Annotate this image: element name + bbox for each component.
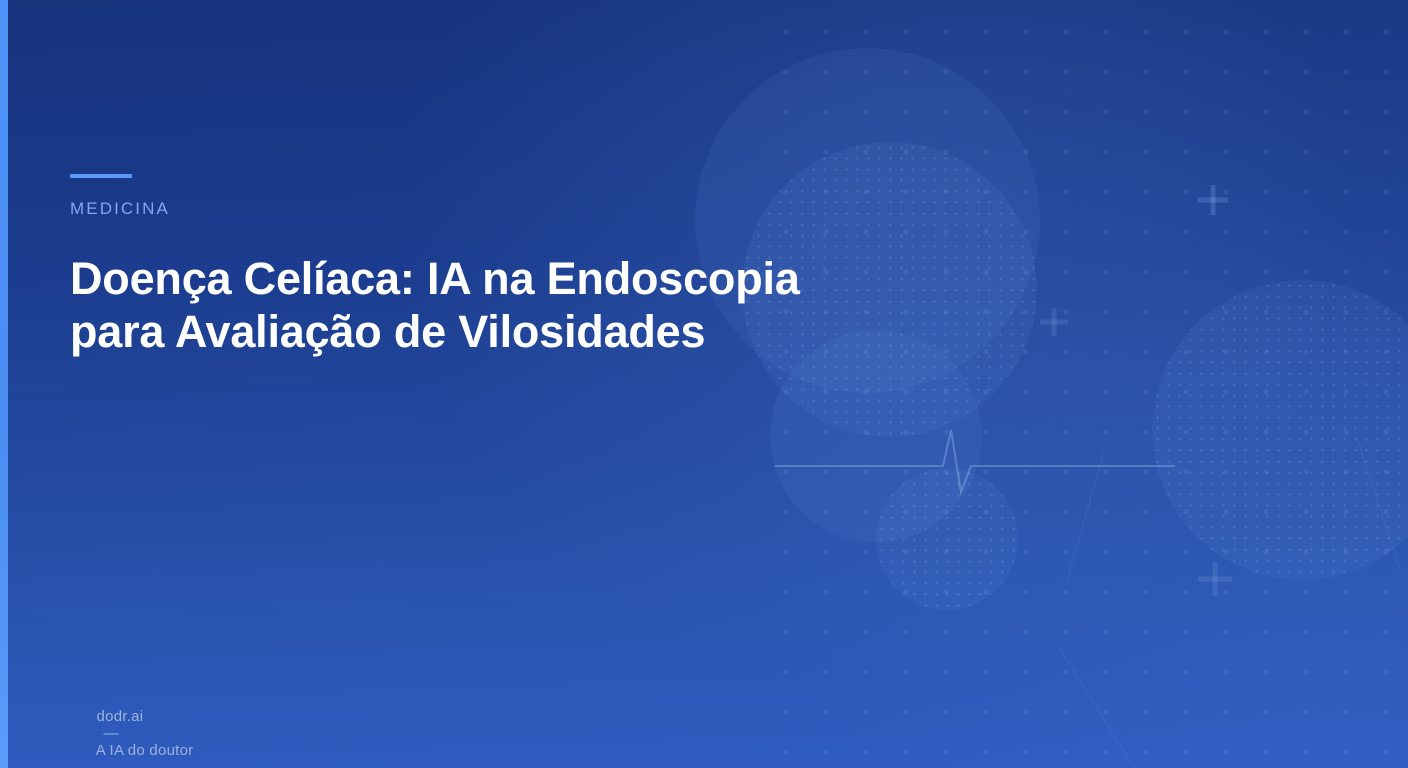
footer-tagline: A IA do doutor — [96, 742, 194, 759]
left-accent-bar — [0, 0, 8, 768]
footer-brand: dodr.ai — [97, 708, 144, 725]
page-title: Doença Celíaca: IA na Endoscopia para Av… — [70, 252, 850, 358]
plus-mark-mid-right-icon — [1040, 308, 1068, 336]
footer-attribution: dodr.ai — A IA do doutor — [70, 691, 193, 768]
page-title-line-2: para Avaliação de Vilosidades — [70, 305, 850, 358]
footer-separator: — — [97, 725, 126, 742]
category-eyebrow: MEDICINA — [70, 199, 170, 219]
decorative-circle-right-large — [1152, 280, 1408, 580]
plus-mark-lower-right-icon — [1198, 562, 1232, 596]
diagonal-line-lower — [1059, 648, 1158, 768]
eyebrow-accent-rule — [70, 174, 132, 178]
content-block: MEDICINA Doença Celíaca: IA na Endoscopi… — [70, 0, 890, 768]
social-hero-card: MEDICINA Doença Celíaca: IA na Endoscopi… — [0, 0, 1408, 768]
page-title-line-1: Doença Celíaca: IA na Endoscopia — [70, 252, 850, 305]
plus-mark-upper-right-icon — [1198, 185, 1228, 215]
